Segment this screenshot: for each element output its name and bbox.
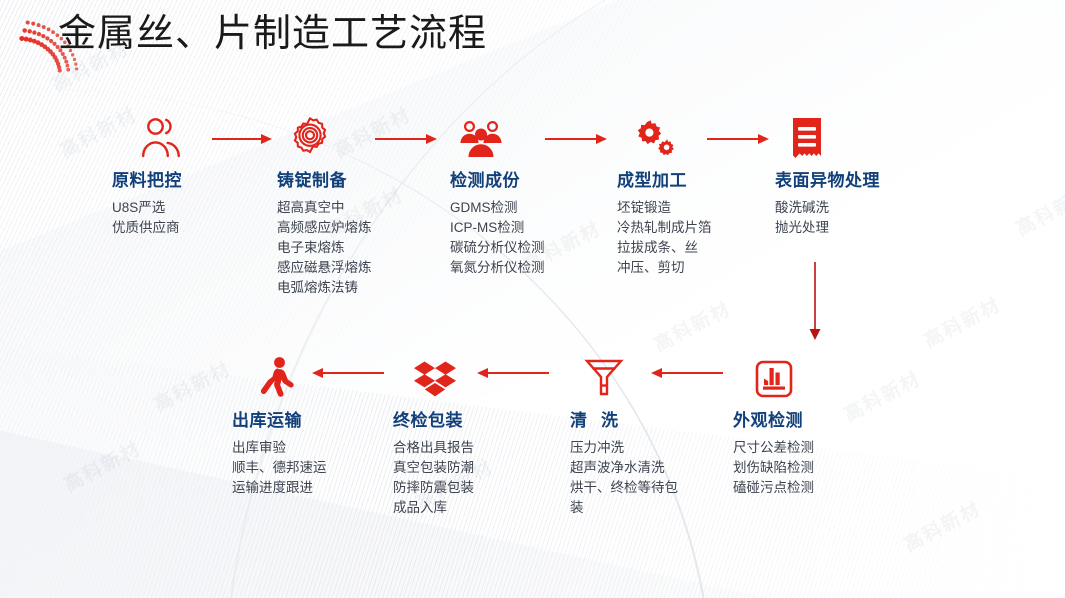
process-step-title: 成型加工 (617, 166, 772, 191)
process-step-detail-line: 烘干、终检等待包装 (570, 478, 690, 518)
process-step-title: 外观检测 (733, 406, 883, 431)
process-step-detail-line: 运输进度跟进 (232, 478, 382, 498)
process-step-detail-line: 压力冲洗 (570, 438, 690, 458)
process-step-detail-line: 高频感应炉熔炼 (277, 218, 437, 238)
process-step-title: 表面异物处理 (775, 166, 925, 191)
page-title: 金属丝、片制造工艺流程 (58, 8, 487, 58)
process-step-detail-line: 真空包装防潮 (393, 458, 543, 478)
process-step-detail-line: 感应磁悬浮熔炼 (277, 258, 437, 278)
process-step-detail-line: 抛光处理 (775, 218, 925, 238)
process-step-detail-line: 碳硫分析仪检测 (450, 238, 610, 258)
process-step-detail-list: 压力冲洗超声波净水清洗烘干、终检等待包装 (570, 438, 690, 518)
arrow-left-icon (651, 367, 723, 379)
process-step-detail-list: 坯锭锻造冷热轧制成片箔拉拔成条、丝冲压、剪切 (617, 198, 772, 278)
process-step-detail-line: 磕碰污点检测 (733, 478, 883, 498)
process-step-detail-line: 出库审验 (232, 438, 382, 458)
arrow-left-icon (477, 367, 549, 379)
process-step-detail-line: 电子束熔炼 (277, 238, 437, 258)
process-step-detail-line: U8S严选 (112, 198, 262, 218)
process-step-detail-line: 防摔防震包装 (393, 478, 543, 498)
arrow-left-icon (312, 367, 384, 379)
process-step-raw-material-control[interactable]: 原料把控U8S严选优质供应商 (112, 112, 262, 238)
process-step-detail-line: ICP-MS检测 (450, 218, 610, 238)
process-step-detail-line: 氧氮分析仪检测 (450, 258, 610, 278)
process-step-detail-line: GDMS检测 (450, 198, 610, 218)
process-step-detail-line: 坯锭锻造 (617, 198, 772, 218)
factory-framed-icon (733, 352, 883, 398)
process-step-detail-list: U8S严选优质供应商 (112, 198, 262, 238)
process-step-detail-line: 冲压、剪切 (617, 258, 772, 278)
arrow-right-icon (375, 133, 437, 145)
process-step-title: 检测成份 (450, 166, 610, 191)
process-step-detail-line: 酸洗碱洗 (775, 198, 925, 218)
process-step-detail-line: 拉拔成条、丝 (617, 238, 772, 258)
process-step-title: 原料把控 (112, 166, 262, 191)
process-step-title: 出库运输 (232, 406, 382, 431)
process-step-detail-line: 尺寸公差检测 (733, 438, 883, 458)
process-step-detail-line: 成品入库 (393, 498, 543, 518)
process-step-detail-line: 顺丰、德邦速运 (232, 458, 382, 478)
process-step-appearance-inspection[interactable]: 外观检测尺寸公差检测划伤缺陷检测磕碰污点检测 (733, 352, 883, 498)
process-step-title: 铸锭制备 (277, 166, 437, 191)
process-step-detail-line: 电弧熔炼法铸 (277, 278, 437, 298)
process-step-detail-list: GDMS检测ICP-MS检测碳硫分析仪检测氧氮分析仪检测 (450, 198, 610, 278)
process-step-detail-list: 酸洗碱洗抛光处理 (775, 198, 925, 238)
process-step-detail-list: 出库审验顺丰、德邦速运运输进度跟进 (232, 438, 382, 498)
arrow-right-icon (545, 133, 607, 145)
process-step-detail-list: 合格出具报告真空包装防潮防摔防震包装成品入库 (393, 438, 543, 518)
arrow-right-icon (212, 133, 272, 145)
process-step-detail-list: 尺寸公差检测划伤缺陷检测磕碰污点检测 (733, 438, 883, 498)
process-step-detail-line: 冷热轧制成片箔 (617, 218, 772, 238)
arrow-down-icon (808, 262, 822, 340)
process-step-detail-list: 超高真空中高频感应炉熔炼电子束熔炼感应磁悬浮熔炼电弧熔炼法铸 (277, 198, 437, 298)
process-step-detail-line: 优质供应商 (112, 218, 262, 238)
process-step-detail-line: 划伤缺陷检测 (733, 458, 883, 478)
process-step-detail-line: 合格出具报告 (393, 438, 543, 458)
process-step-detail-line: 超高真空中 (277, 198, 437, 218)
process-step-detail-line: 超声波净水清洗 (570, 458, 690, 478)
process-step-title: 清洗 (570, 406, 690, 431)
arrow-right-icon (707, 133, 769, 145)
process-step-surface-treatment[interactable]: 表面异物处理酸洗碱洗抛光处理 (775, 112, 925, 238)
process-step-title: 终检包装 (393, 406, 543, 431)
document-lines-icon (775, 112, 925, 158)
